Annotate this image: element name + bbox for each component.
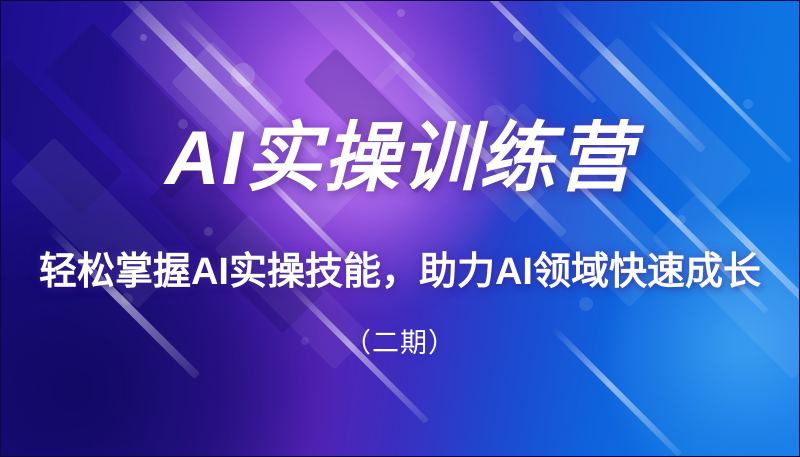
banner-subtitle: 轻松掌握AI实操技能，助力AI领域快速成长 [1,247,799,297]
banner-title: AI实操训练营 [1,113,799,205]
banner-edition-label: （二期） [1,323,799,363]
course-banner: AI实操训练营 轻松掌握AI实操技能，助力AI领域快速成长 （二期） [0,0,800,457]
banner-content: AI实操训练营 轻松掌握AI实操技能，助力AI领域快速成长 （二期） [1,1,799,456]
